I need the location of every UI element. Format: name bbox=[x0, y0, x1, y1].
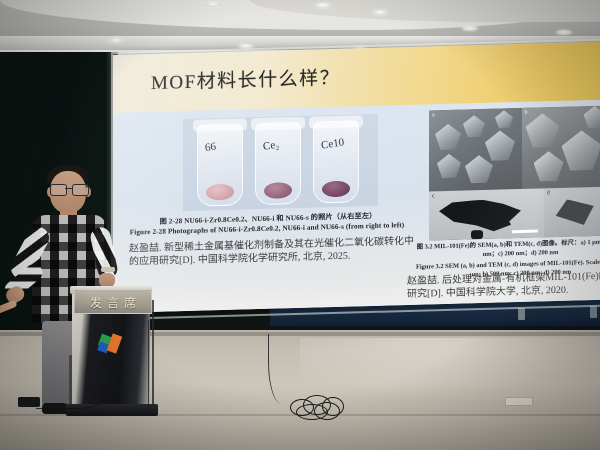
ceiling-downlight bbox=[556, 30, 572, 35]
floor-cable bbox=[36, 386, 103, 409]
wall-fixture bbox=[590, 306, 597, 318]
raised-index-finger bbox=[0, 300, 18, 315]
ceiling-downlight bbox=[372, 10, 388, 15]
wall-fixture bbox=[518, 308, 525, 320]
ceiling-downlight bbox=[108, 38, 124, 43]
floor-cable bbox=[148, 320, 151, 406]
presentation-scene: MOF材料长什么样？ 66 Ce₂ Ce10 bbox=[0, 0, 600, 450]
speaker-wristwatch bbox=[101, 267, 115, 272]
projection-screen-frame bbox=[111, 38, 600, 320]
cable-loop bbox=[322, 397, 344, 416]
ceiling-downlight bbox=[205, 2, 221, 7]
microphone-stand bbox=[152, 300, 154, 408]
ceiling-downlight bbox=[462, 26, 478, 31]
speaker-left-hand bbox=[4, 284, 27, 306]
floor-outlet-plate bbox=[505, 397, 533, 406]
ceiling-downlight bbox=[315, 3, 331, 8]
glasses-lens bbox=[50, 184, 67, 196]
glasses-bridge bbox=[65, 188, 72, 189]
speaker-glasses bbox=[50, 184, 87, 194]
lectern-sign: 发言席 bbox=[74, 290, 152, 314]
coiled-cable bbox=[290, 395, 348, 421]
lectern-sign-text: 发言席 bbox=[85, 294, 141, 311]
speaker-right-hand bbox=[99, 273, 115, 287]
floor-reflection bbox=[300, 338, 600, 398]
glasses-lens bbox=[72, 184, 89, 196]
